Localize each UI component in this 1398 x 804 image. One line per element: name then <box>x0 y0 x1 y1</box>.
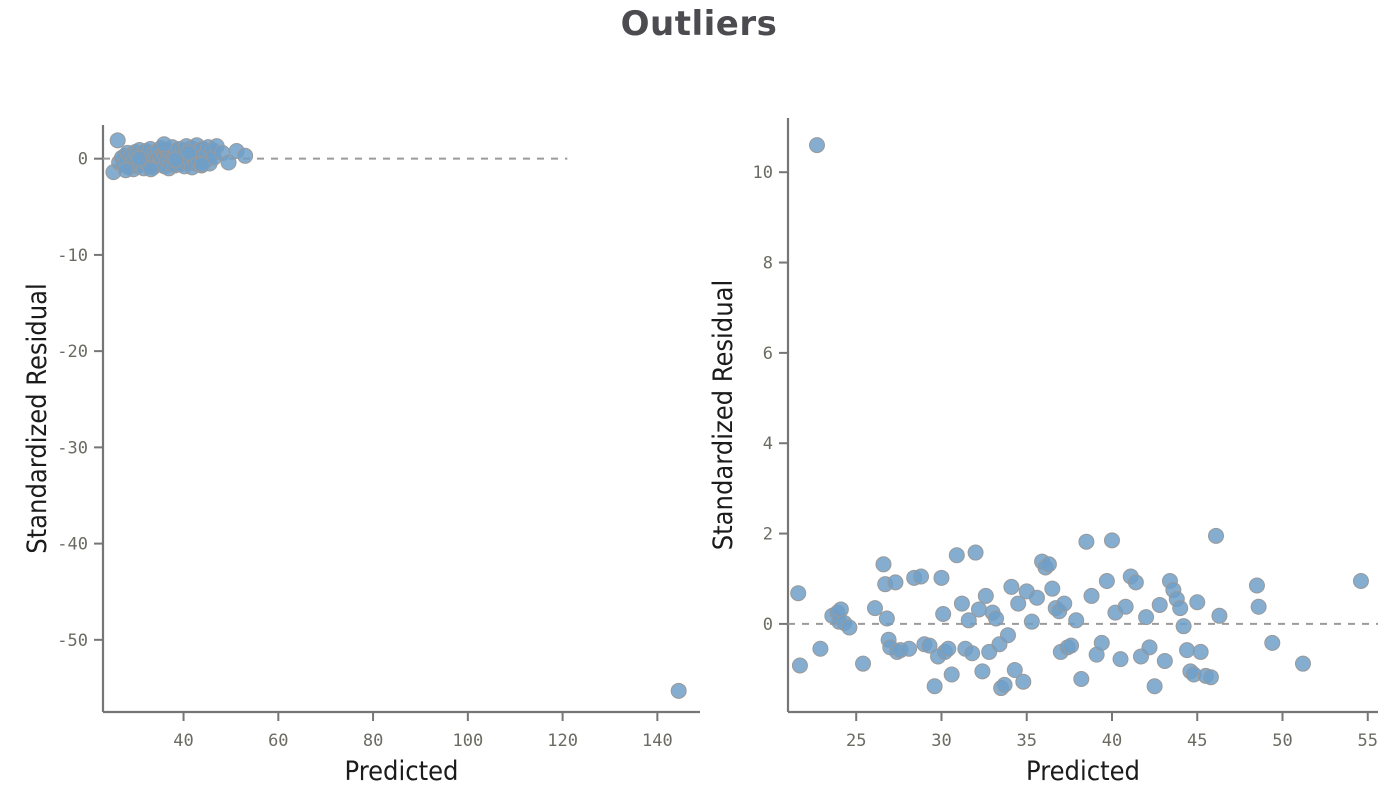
figure-canvas: Outliers 4060801001201400-10-20-30-40-50… <box>0 0 1398 804</box>
scatter-point <box>1099 574 1114 589</box>
scatter-point <box>168 152 183 167</box>
scatter-point <box>1152 597 1167 612</box>
scatter-point <box>989 611 1004 626</box>
right-plot-x-tick-label: 40 <box>1102 731 1122 751</box>
scatter-point <box>888 575 903 590</box>
right-plot-x-tick-label: 35 <box>1016 731 1036 751</box>
scatter-point <box>1139 610 1154 625</box>
scatter-point <box>1353 574 1368 589</box>
scatter-point <box>1212 608 1227 623</box>
scatter-point <box>1249 578 1264 593</box>
scatter-point <box>1173 601 1188 616</box>
right-plot-x-axis-label: Predicted <box>1026 756 1140 787</box>
scatter-point <box>1057 596 1072 611</box>
scatter-point <box>902 641 917 656</box>
left-plot-svg: 4060801001201400-10-20-30-40-50Predicted… <box>0 0 720 804</box>
scatter-point <box>876 557 891 572</box>
scatter-point <box>1190 595 1205 610</box>
right-plot-y-tick-label: 0 <box>763 615 773 635</box>
scatter-panel-right: 253035404550550246810PredictedStandardiz… <box>700 0 1398 804</box>
scatter-point <box>110 133 125 148</box>
scatter-point <box>1064 638 1079 653</box>
scatter-point <box>944 667 959 682</box>
scatter-point <box>949 548 964 563</box>
right-plot-x-tick-label: 45 <box>1187 731 1207 751</box>
scatter-point <box>1104 533 1119 548</box>
scatter-point <box>1142 640 1157 655</box>
scatter-point <box>132 151 147 166</box>
scatter-point <box>1069 613 1084 628</box>
scatter-point <box>1000 628 1015 643</box>
left-plot-y-tick-label: -10 <box>57 246 88 266</box>
scatter-point <box>965 646 980 661</box>
scatter-point <box>936 606 951 621</box>
scatter-point <box>1045 581 1060 596</box>
scatter-point <box>954 596 969 611</box>
right-plot-y-tick-label: 10 <box>753 163 773 183</box>
scatter-point <box>941 641 956 656</box>
scatter-point <box>1024 614 1039 629</box>
scatter-point <box>181 145 196 160</box>
scatter-point <box>118 163 133 178</box>
scatter-point <box>1029 590 1044 605</box>
scatter-point <box>1176 619 1191 634</box>
left-plot-x-tick-label: 40 <box>173 731 193 751</box>
right-plot-points-group <box>791 138 1369 696</box>
scatter-point <box>1295 656 1310 671</box>
scatter-point <box>1265 635 1280 650</box>
left-plot-x-tick-label: 60 <box>268 731 288 751</box>
left-plot-x-tick-label: 120 <box>547 731 578 751</box>
left-plot-y-tick-label: -30 <box>57 438 88 458</box>
scatter-point <box>1128 575 1143 590</box>
right-plot-x-tick-label: 50 <box>1272 731 1292 751</box>
scatter-point <box>1118 599 1133 614</box>
right-plot-x-tick-label: 30 <box>931 731 951 751</box>
scatter-point <box>791 586 806 601</box>
right-plot-x-tick-label: 25 <box>846 731 866 751</box>
scatter-point <box>968 545 983 560</box>
scatter-point <box>792 658 807 673</box>
scatter-point <box>856 656 871 671</box>
left-plot-y-tick-label: -40 <box>57 535 88 555</box>
scatter-point <box>833 602 848 617</box>
scatter-point <box>842 620 857 635</box>
scatter-point <box>813 641 828 656</box>
scatter-point <box>1016 674 1031 689</box>
scatter-point <box>971 602 986 617</box>
scatter-point <box>867 601 882 616</box>
scatter-point <box>1180 643 1195 658</box>
scatter-point <box>1157 653 1172 668</box>
left-plot-y-axis-label: Standardized Residual <box>22 283 53 554</box>
right-plot-y-tick-label: 6 <box>763 344 773 364</box>
scatter-point <box>914 569 929 584</box>
scatter-point <box>1004 579 1019 594</box>
right-plot-y-tick-label: 8 <box>763 254 773 274</box>
scatter-point <box>1113 652 1128 667</box>
right-plot-y-axis-label: Standardized Residual <box>708 280 739 551</box>
scatter-point <box>879 611 894 626</box>
right-plot-y-tick-label: 2 <box>763 525 773 545</box>
scatter-point <box>1203 670 1218 685</box>
right-plot-x-tick-label: 55 <box>1358 731 1378 751</box>
right-plot-svg: 253035404550550246810PredictedStandardiz… <box>700 0 1398 804</box>
scatter-point <box>1251 599 1266 614</box>
scatter-point <box>1147 679 1162 694</box>
scatter-point <box>978 588 993 603</box>
scatter-point <box>934 570 949 585</box>
scatter-point <box>195 157 210 172</box>
scatter-panel-left: 4060801001201400-10-20-30-40-50Predicted… <box>0 0 720 804</box>
scatter-point <box>157 137 172 152</box>
left-plot-x-axis-label: Predicted <box>345 756 459 787</box>
left-plot-x-tick-label: 80 <box>363 731 383 751</box>
left-plot-x-tick-label: 140 <box>642 731 673 751</box>
scatter-point <box>997 677 1012 692</box>
left-plot-x-tick-label: 100 <box>452 731 483 751</box>
scatter-point <box>1079 534 1094 549</box>
scatter-point <box>1074 672 1089 687</box>
left-plot-y-tick-label: -20 <box>57 342 88 362</box>
left-plot-y-tick-label: 0 <box>78 150 88 170</box>
scatter-point <box>975 664 990 679</box>
left-plot-y-tick-label: -50 <box>57 631 88 651</box>
scatter-point <box>143 162 158 177</box>
scatter-point <box>809 138 824 153</box>
scatter-point <box>1209 528 1224 543</box>
scatter-point <box>1084 588 1099 603</box>
scatter-point <box>1193 644 1208 659</box>
scatter-point <box>1094 635 1109 650</box>
scatter-point <box>927 679 942 694</box>
scatter-point <box>238 148 253 163</box>
scatter-point <box>1041 557 1056 572</box>
right-plot-y-tick-label: 4 <box>763 434 773 454</box>
scatter-point <box>671 683 686 698</box>
left-plot-points-group <box>106 133 686 698</box>
